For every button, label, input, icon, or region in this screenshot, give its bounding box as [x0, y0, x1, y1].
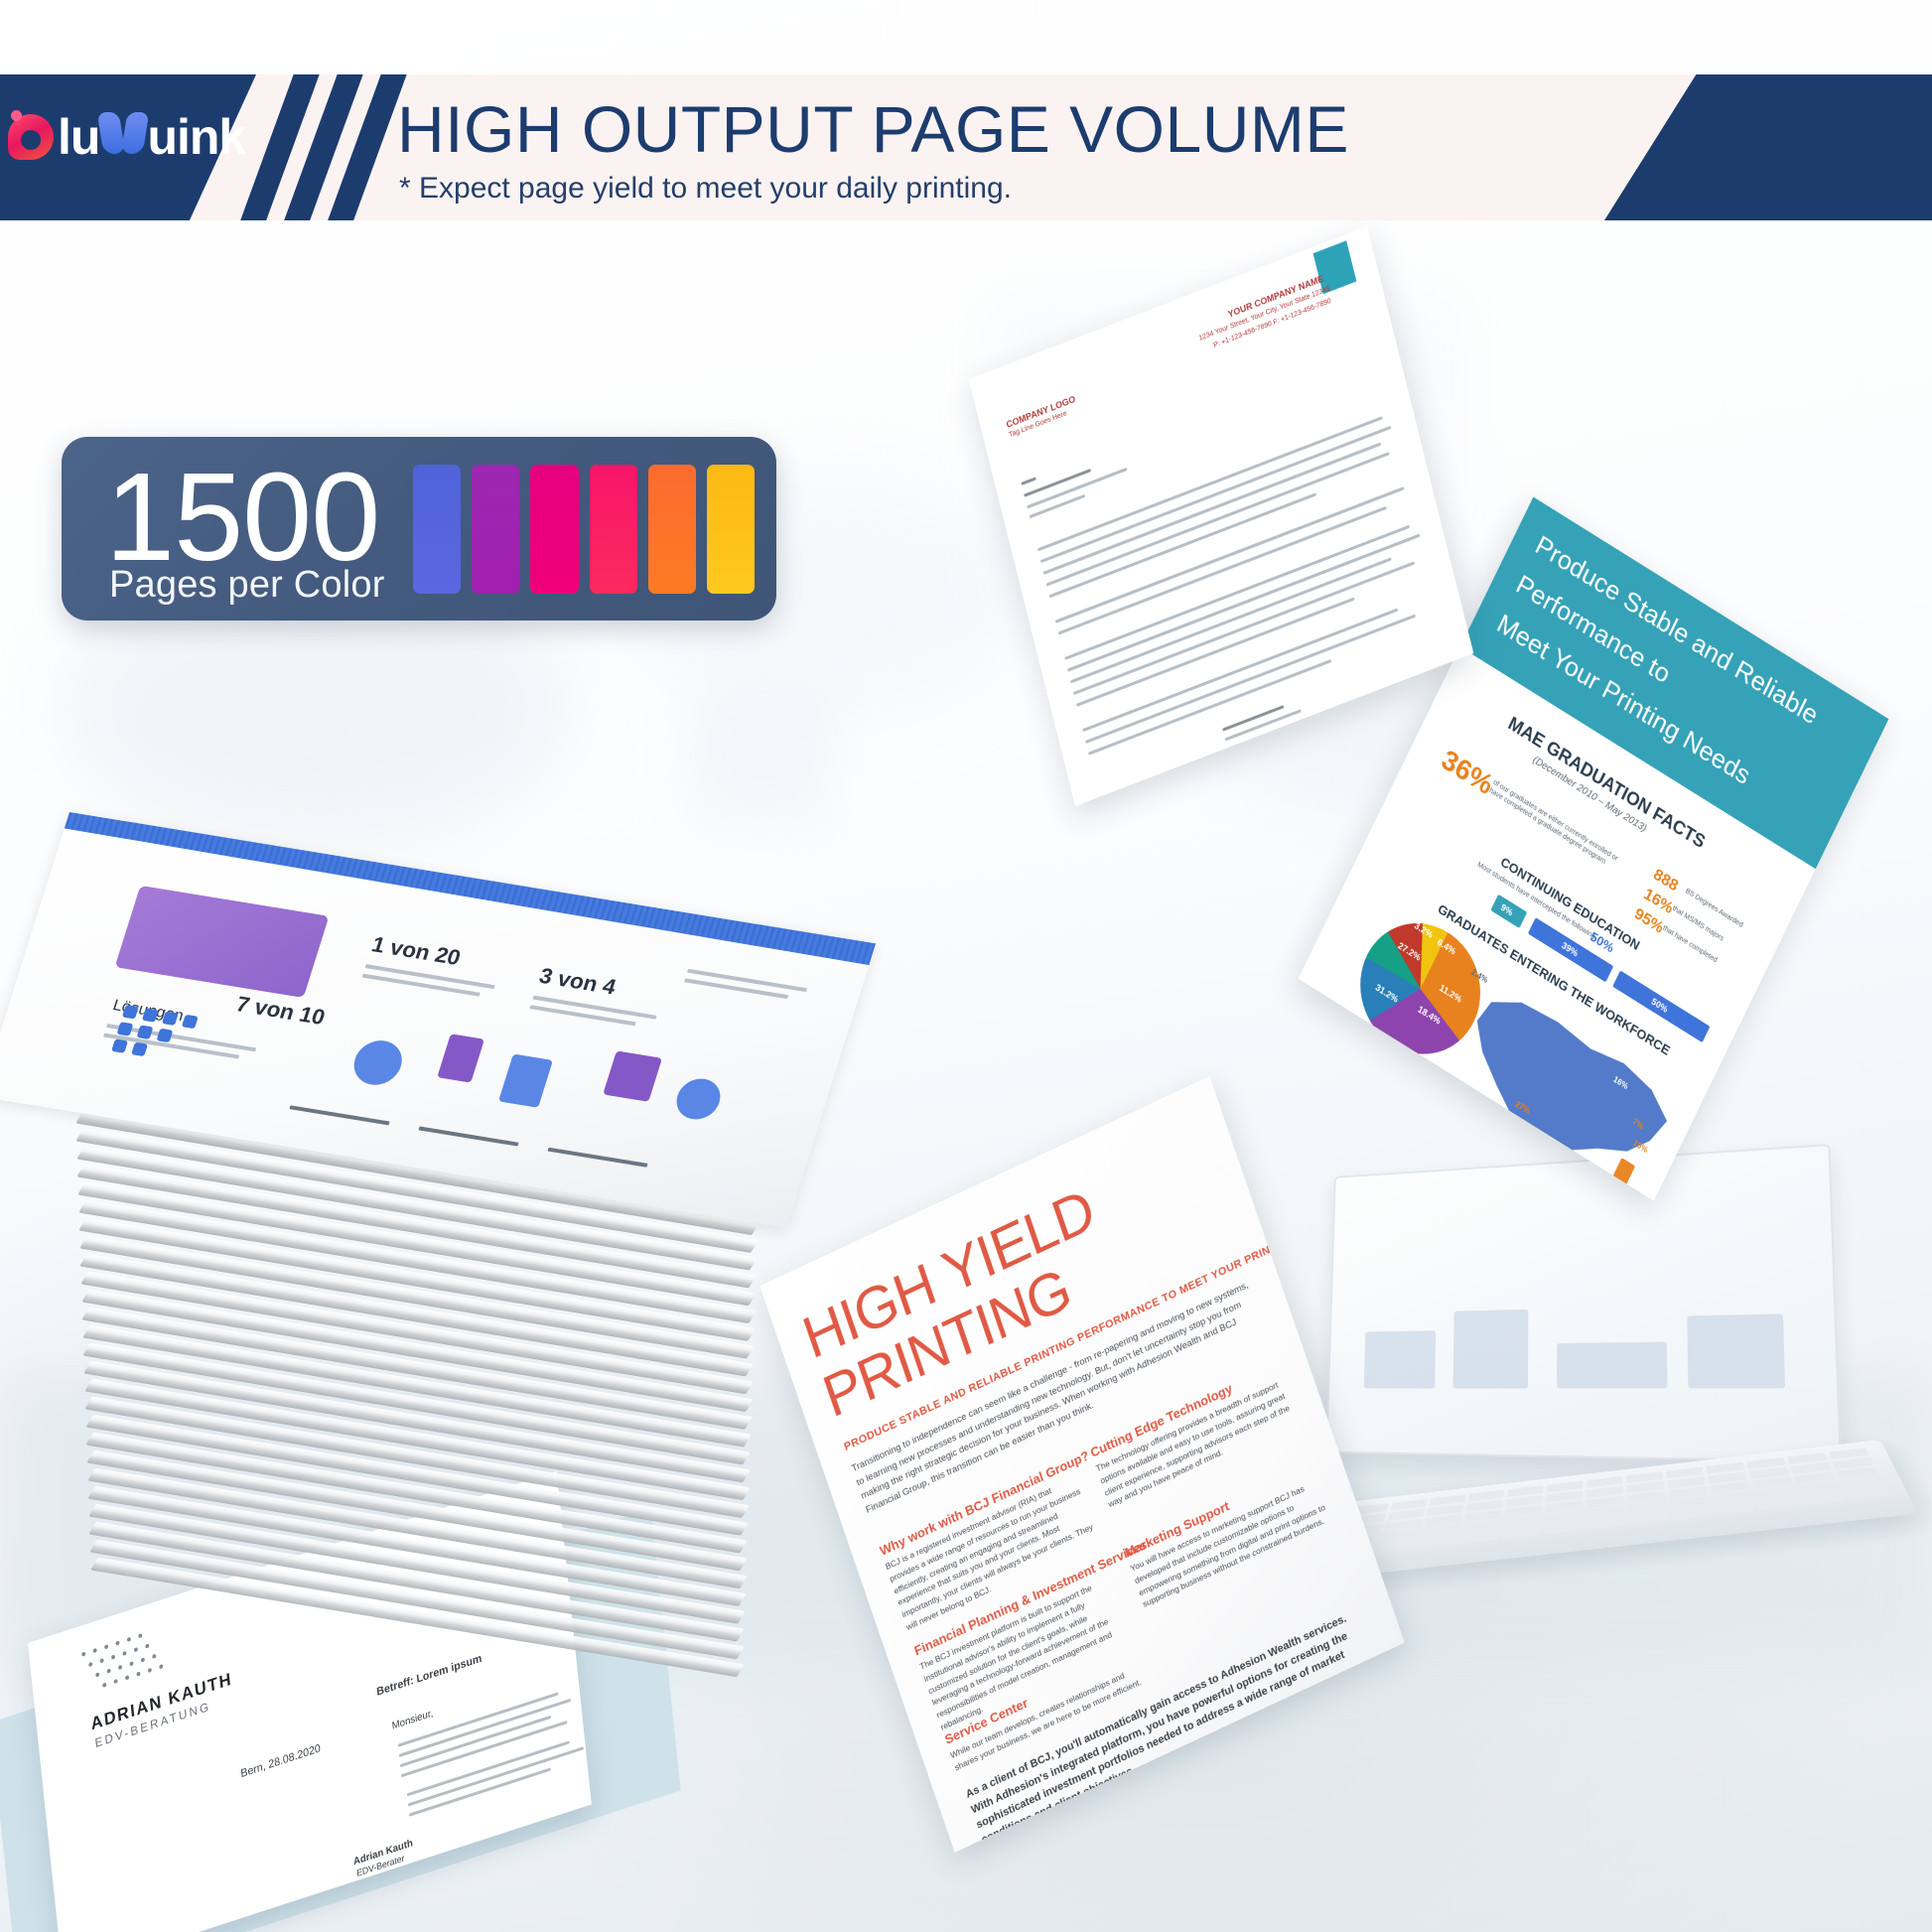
sheet-text-line: [529, 1005, 635, 1026]
droplet-logo-icon: [8, 114, 54, 160]
bar-magenta: [530, 465, 578, 594]
letterhead-body-line: [409, 1767, 551, 1816]
letterhead-subject: Betreff: Lorem ipsum: [376, 1652, 483, 1699]
header-banner: lu uink HIGH OUTPUT PAGE VOLUME * Expect…: [0, 74, 1932, 220]
pie-label-5: 3.2%: [1413, 920, 1435, 940]
sheet-icon-person-icon: [437, 1034, 484, 1082]
screen-chart-1: [1364, 1330, 1436, 1388]
laptop-screen: [1325, 1144, 1842, 1463]
bg-mug: [685, 695, 834, 824]
pie-label-1: 27.2%: [1397, 940, 1423, 963]
keyboard-keys: [1292, 1448, 1895, 1575]
screen-chart-4: [1687, 1313, 1785, 1388]
brand-name-part-2: uink: [147, 112, 245, 162]
poster-canvas: ADRIAN KAUTH EDV-BERATUNG Bern, 28.08.20…: [0, 0, 1932, 1932]
pie-label-2: 18.4%: [1417, 1004, 1443, 1027]
letterhead-body-line: [400, 1716, 551, 1767]
color-bar-group: [413, 465, 755, 594]
sheet-icon-clock-icon: [348, 1037, 408, 1088]
sheet-purple-panel: [115, 886, 330, 998]
sheet-dot: [117, 1022, 134, 1036]
sheet-dot: [111, 1038, 128, 1053]
bar-orange: [648, 465, 696, 594]
pie-label-4: 6.4%: [1436, 937, 1457, 957]
sheet-text-line: [684, 978, 788, 999]
sheet-footer-line: [547, 1148, 647, 1168]
letterhead-date: Bern, 28.08.2020: [240, 1742, 322, 1780]
sheet-heading-3: 7 von 10: [233, 992, 329, 1031]
letter-body-line: [1040, 426, 1392, 563]
letter-body-line: [1058, 506, 1387, 635]
pie-label-0: 31.2%: [1374, 982, 1400, 1005]
page-title: HIGH OUTPUT PAGE VOLUME: [397, 96, 1349, 162]
brand-logo[interactable]: lu uink: [8, 112, 245, 162]
pie-label-3: 11.2%: [1438, 983, 1463, 1005]
letter-teal-tab: [1313, 240, 1357, 294]
page-subtitle: * Expect page yield to meet your daily p…: [399, 172, 1012, 206]
letter-recipient-org: [1029, 494, 1085, 518]
sheet-heading-1: 1 von 20: [368, 932, 464, 971]
sheet-dot: [131, 1042, 148, 1057]
brand-m-icon: [100, 112, 146, 154]
header-navy-right-block: [1604, 74, 1932, 220]
brand-name-part-1: lu: [58, 112, 99, 162]
sheet-dot: [137, 1025, 154, 1039]
bar-pink: [590, 465, 637, 594]
bar-purple: [472, 465, 519, 594]
sheet-icon-doc-icon: [498, 1054, 553, 1108]
sheet-footer-line: [289, 1105, 389, 1125]
letter-body-line: [1055, 486, 1405, 623]
screen-chart-2: [1453, 1310, 1529, 1389]
letter-body-line: [1073, 561, 1415, 695]
sheet-icon-gear-icon: [671, 1076, 726, 1123]
sheet-dot: [182, 1015, 199, 1030]
page-yield-badge: 1500 Pages per Color: [62, 437, 776, 621]
screen-chart-3: [1557, 1342, 1667, 1389]
sheet-footer-line: [418, 1126, 518, 1146]
badge-caption: Pages per Color: [109, 564, 385, 607]
sheet-icon-chart-icon: [603, 1050, 662, 1101]
bar-blue: [413, 465, 461, 594]
brand-name: lu uink: [58, 112, 245, 162]
sheet-heading-2: 3 von 4: [536, 963, 620, 1000]
letter-to-label: [1021, 477, 1036, 485]
laptop-mockup: [1277, 1158, 1892, 1575]
letter-body-line: [1070, 557, 1392, 683]
bar-yellow: [707, 465, 755, 594]
sheet-dot: [157, 1029, 174, 1043]
letterhead-greeting: Monsieur,: [391, 1708, 433, 1732]
